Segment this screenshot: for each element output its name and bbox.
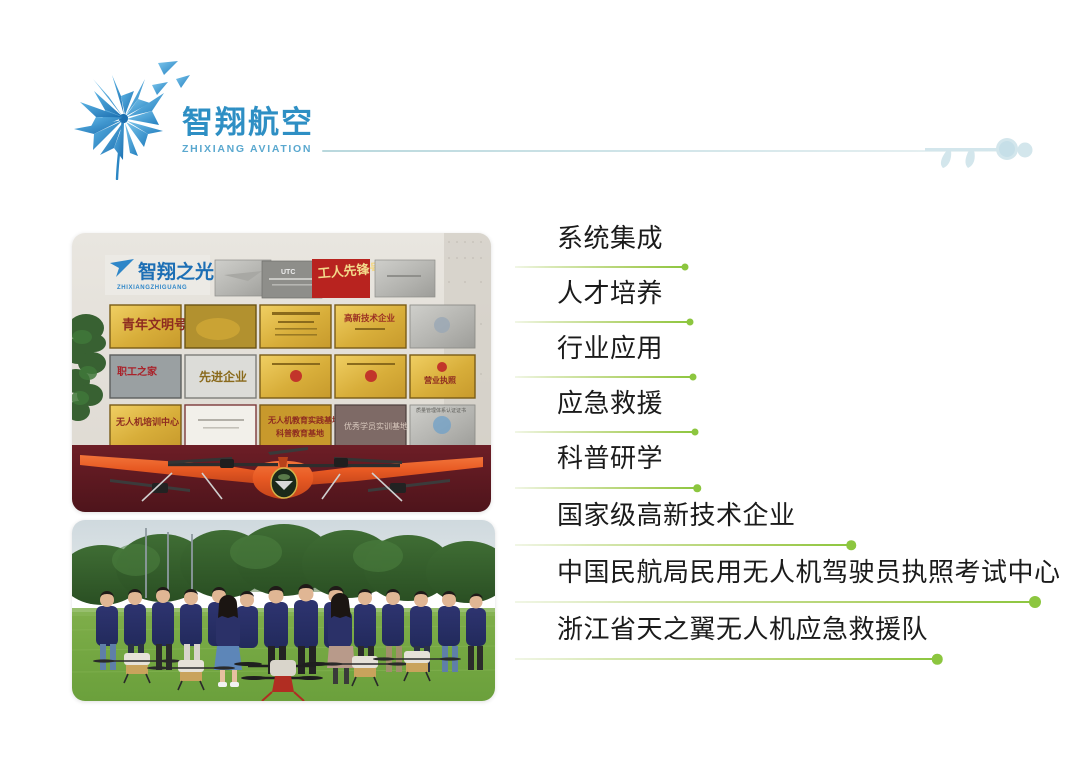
- svg-text:营业执照: 营业执照: [424, 375, 456, 385]
- list-item-label: 国家级高新技术企业: [557, 495, 796, 532]
- svg-text:UTC: UTC: [281, 269, 295, 276]
- leaf-sprig-icon: [925, 128, 1040, 170]
- brand-name-cn: 智翔航空: [182, 107, 382, 138]
- company-logo: 智翔航空 ZHIXIANG AVIATION: [60, 55, 340, 180]
- svg-text:无人机培训中心: 无人机培训中心: [115, 416, 179, 427]
- list-item[interactable]: 浙江省天之翼无人机应急救援队: [515, 605, 1075, 662]
- list-item-label: 浙江省天之翼无人机应急救援队: [557, 609, 928, 646]
- list-item-label: 人才培养: [557, 273, 663, 310]
- list-item[interactable]: 系统集成: [515, 215, 1075, 270]
- rule-bar: [515, 487, 697, 489]
- brand-name-en: ZHIXIANG AVIATION: [182, 143, 382, 155]
- list-item-label: 应急救援: [557, 383, 663, 420]
- list-item-label: 系统集成: [557, 218, 663, 255]
- svg-text:职工之家: 职工之家: [117, 365, 158, 378]
- list-item-label: 科普研学: [557, 438, 663, 475]
- rule-bar: [515, 431, 695, 433]
- svg-text:优秀学员实训基地: 优秀学员实训基地: [344, 421, 408, 431]
- wall-banner: 智翔之光 ZHIXIANGZHIGUANG: [105, 255, 214, 295]
- list-item-rule: [515, 653, 950, 665]
- capability-list: 系统集成 人才培养 行业应用 应急救援: [515, 215, 1075, 662]
- svg-text:青年文明号: 青年文明号: [122, 317, 187, 332]
- rule-bar: [515, 601, 1035, 603]
- rule-bar: [515, 376, 693, 378]
- svg-text:科普教育基地: 科普教育基地: [276, 428, 324, 438]
- svg-text:高新技术企业: 高新技术企业: [344, 313, 396, 323]
- list-item[interactable]: 人才培养: [515, 270, 1075, 325]
- svg-text:质量管理体系认证证书: 质量管理体系认证证书: [416, 407, 466, 414]
- list-item[interactable]: 国家级高新技术企业: [515, 491, 1075, 548]
- rule-bar: [515, 321, 690, 323]
- list-item[interactable]: 中国民航局民用无人机驾驶员执照考试中心: [515, 548, 1075, 605]
- list-item-label: 行业应用: [557, 328, 663, 365]
- svg-text:无人机教育实践基地: 无人机教育实践基地: [267, 415, 340, 425]
- rule-bar: [515, 544, 851, 546]
- photo-team-group: [72, 520, 495, 701]
- list-item[interactable]: 应急救援: [515, 380, 1075, 435]
- list-item[interactable]: 行业应用: [515, 325, 1075, 380]
- photo-award-wall: 智翔之光 ZHIXIANGZHIGUANG UTC 工人先锋号 青年文明号 高新: [72, 233, 491, 512]
- page-header: 智翔航空 ZHIXIANG AVIATION: [0, 0, 1080, 200]
- list-item-label: 中国民航局民用无人机驾驶员执照考试中心: [557, 552, 1061, 589]
- rule-bar: [515, 266, 685, 268]
- list-item[interactable]: 科普研学: [515, 435, 1075, 491]
- brand-text: 智翔航空 ZHIXIANG AVIATION: [182, 107, 382, 155]
- svg-text:智翔之光: 智翔之光: [138, 260, 214, 283]
- slide-page: 智翔航空 ZHIXIANG AVIATION: [0, 0, 1080, 763]
- dandelion-icon: [60, 55, 190, 180]
- svg-text:ZHIXIANGZHIGUANG: ZHIXIANGZHIGUANG: [117, 285, 187, 291]
- svg-text:先进企业: 先进企业: [199, 369, 247, 384]
- rule-dot: [932, 654, 943, 665]
- rule-bar: [515, 658, 937, 660]
- header-divider: [322, 150, 1012, 152]
